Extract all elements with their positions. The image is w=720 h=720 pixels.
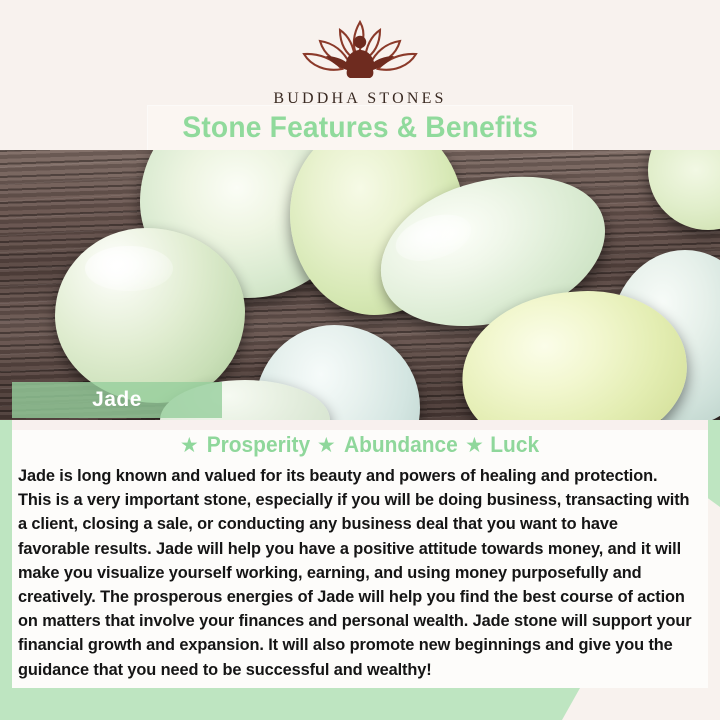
lotus-meditation-icon <box>284 14 436 88</box>
keyword-row: ★Prosperity ★Abundance ★Luck <box>12 432 708 458</box>
keyword-luck: ★Luck <box>465 436 540 453</box>
keyword-prosperity: ★Prosperity <box>180 436 313 453</box>
description-panel: ★Prosperity ★Abundance ★Luck Jade is lon… <box>12 420 708 688</box>
keyword-label: Luck <box>490 432 539 458</box>
panel-top-strip <box>12 420 708 430</box>
stone-photo <box>0 150 720 420</box>
keyword-abundance: ★Abundance <box>317 436 461 453</box>
description-text: Jade is long known and valued for its be… <box>18 464 692 682</box>
star-icon: ★ <box>180 435 199 456</box>
jade-stone <box>55 228 245 403</box>
stone-name-label: Jade <box>92 388 142 412</box>
star-icon: ★ <box>465 435 484 456</box>
star-icon: ★ <box>317 435 336 456</box>
brand-logo: BUDDHA STONES <box>0 14 720 108</box>
keyword-label: Abundance <box>344 432 458 458</box>
green-accent-bottom <box>0 688 580 720</box>
keyword-label: Prosperity <box>206 432 309 458</box>
title-banner: Stone Features & Benefits <box>148 106 572 150</box>
green-accent-left-lower <box>0 420 12 690</box>
stone-name-band: Jade <box>12 382 222 418</box>
infographic-page: BUDDHA STONES Stone Features & Benefits … <box>0 0 720 720</box>
page-title: Stone Features & Benefits <box>182 111 538 145</box>
